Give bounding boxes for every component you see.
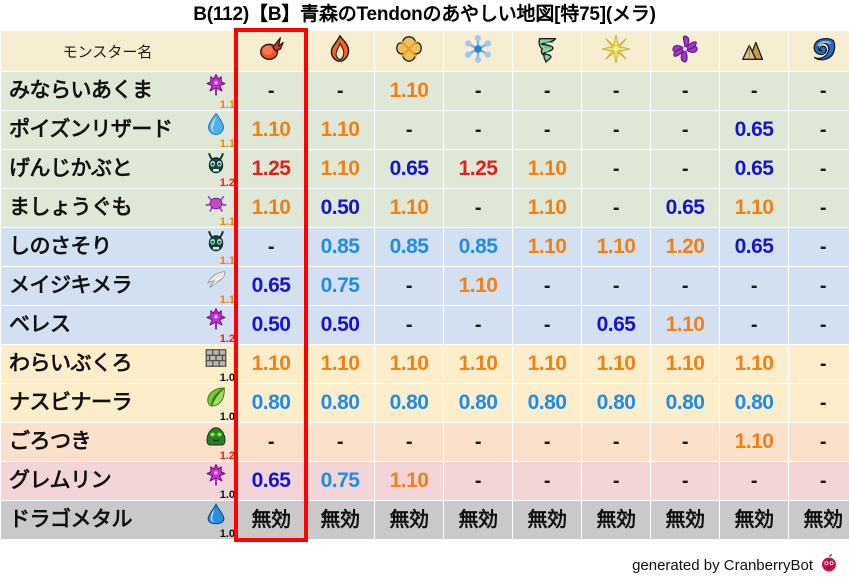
monster-name-cell[interactable]: げんじかぶと1.2	[1, 150, 236, 188]
damage-cell[interactable]: 1.10	[237, 189, 305, 227]
damage-cell[interactable]: -	[513, 111, 581, 149]
damage-cell[interactable]: 無効	[513, 501, 581, 539]
damage-cell[interactable]: 0.50	[237, 306, 305, 344]
damage-cell[interactable]: 1.10	[651, 306, 719, 344]
feather-wing-icon	[198, 268, 234, 296]
damage-cell[interactable]: -	[789, 423, 849, 461]
damage-cell[interactable]: 0.80	[237, 384, 305, 422]
damage-cell[interactable]: -	[444, 189, 512, 227]
damage-cell[interactable]: 無効	[582, 501, 650, 539]
beetle-icon	[198, 229, 234, 257]
tornado-icon	[532, 34, 562, 69]
damage-cell[interactable]: 0.65	[651, 189, 719, 227]
column-header-monster-name: モンスター名	[1, 31, 236, 71]
damage-cell[interactable]: -	[513, 72, 581, 110]
damage-cell[interactable]: -	[789, 189, 849, 227]
damage-cell[interactable]: 1.10	[720, 345, 788, 383]
fireball-icon	[256, 34, 286, 69]
table-row: わらいぶくろ1.01.101.101.101.101.101.101.101.1…	[1, 345, 849, 383]
damage-cell[interactable]: -	[789, 462, 849, 500]
damage-cell[interactable]: 1.10	[513, 345, 581, 383]
damage-cell[interactable]: 1.10	[375, 189, 443, 227]
damage-table: モンスター名 みならいあくま1.1--1.10------ポイズンリザード1.1…	[0, 30, 849, 540]
footer: generated by CranberryBot	[632, 553, 839, 577]
damage-cell[interactable]: 1.10	[306, 111, 374, 149]
table-row: ポイズンリザード1.11.101.10-----0.65-	[1, 111, 849, 149]
flame-icon	[325, 34, 355, 69]
monster-name-cell[interactable]: ましょうぐも1.1	[1, 189, 236, 227]
damage-cell[interactable]: 1.10	[375, 345, 443, 383]
damage-cell[interactable]: 1.20	[651, 228, 719, 266]
damage-cell[interactable]: -	[582, 111, 650, 149]
damage-cell[interactable]: -	[789, 345, 849, 383]
table-row: ナスビナーラ1.00.800.800.800.800.800.800.800.8…	[1, 384, 849, 422]
damage-cell[interactable]: -	[582, 150, 650, 188]
damage-cell[interactable]: -	[582, 423, 650, 461]
damage-cell[interactable]: -	[720, 462, 788, 500]
damage-cell[interactable]: 0.65	[237, 267, 305, 305]
damage-cell[interactable]: 0.80	[720, 384, 788, 422]
damage-cell[interactable]: 1.10	[375, 72, 443, 110]
table-row: げんじかぶと1.21.251.100.651.251.10--0.65-	[1, 150, 849, 188]
table-row: メイジキメラ1.10.650.75-1.10-----	[1, 267, 849, 305]
damage-cell[interactable]: -	[720, 306, 788, 344]
table-row: みならいあくま1.1--1.10------	[1, 72, 849, 110]
damage-cell[interactable]: -	[789, 111, 849, 149]
damage-cell[interactable]: 1.10	[375, 462, 443, 500]
table-header-row: モンスター名	[1, 31, 849, 71]
column-header-mera[interactable]	[237, 31, 305, 71]
monster-multiplier: 1.0	[220, 373, 235, 384]
damage-cell[interactable]: 1.10	[582, 345, 650, 383]
damage-cell[interactable]: 1.10	[237, 345, 305, 383]
monster-multiplier: 1.0	[220, 412, 235, 423]
damage-cell[interactable]: -	[375, 423, 443, 461]
damage-cell[interactable]: -	[582, 267, 650, 305]
damage-cell[interactable]: -	[789, 267, 849, 305]
column-header-bagi[interactable]	[375, 31, 443, 71]
monster-multiplier: 1.1	[220, 100, 235, 111]
damage-cell[interactable]: 1.10	[306, 150, 374, 188]
damage-cell[interactable]: -	[651, 150, 719, 188]
damage-cell[interactable]: 無効	[444, 501, 512, 539]
damage-cell[interactable]: 0.65	[720, 228, 788, 266]
column-header-hyado[interactable]	[444, 31, 512, 71]
damage-cell[interactable]: 0.80	[375, 384, 443, 422]
damage-cell[interactable]: 0.75	[306, 267, 374, 305]
monster-multiplier: 1.1	[220, 217, 235, 228]
damage-cell[interactable]: 1.10	[720, 423, 788, 461]
damage-cell[interactable]: -	[444, 111, 512, 149]
damage-cell[interactable]: 1.10	[513, 189, 581, 227]
damage-cell[interactable]: 0.80	[651, 384, 719, 422]
damage-cell[interactable]: 1.10	[720, 189, 788, 227]
monster-name-cell[interactable]: ごろつき1.2	[1, 423, 236, 461]
damage-cell[interactable]: -	[582, 462, 650, 500]
table-row: ごろつき1.2-------1.10-	[1, 423, 849, 461]
damage-cell[interactable]: -	[651, 72, 719, 110]
beetle-icon	[198, 151, 234, 179]
damage-cell[interactable]: -	[513, 423, 581, 461]
damage-cell[interactable]: 1.10	[582, 228, 650, 266]
purple-spider-icon	[198, 190, 234, 218]
blue-slime-icon	[198, 502, 234, 530]
damage-cell[interactable]: -	[306, 72, 374, 110]
table-head: モンスター名	[1, 31, 849, 71]
column-header-dein[interactable]	[582, 31, 650, 71]
damage-cell[interactable]: -	[444, 72, 512, 110]
damage-cell[interactable]: -	[444, 462, 512, 500]
monster-name-cell[interactable]: ポイズンリザード1.1	[1, 111, 236, 149]
wave-icon	[808, 34, 838, 69]
monster-name-cell[interactable]: しのさそり1.1	[1, 228, 236, 266]
damage-cell[interactable]: -	[651, 111, 719, 149]
monster-multiplier: 1.1	[220, 139, 235, 150]
column-header-gira[interactable]	[306, 31, 374, 71]
cross-icon	[394, 34, 424, 69]
damage-cell[interactable]: -	[789, 150, 849, 188]
damage-cell[interactable]: -	[237, 72, 305, 110]
damage-cell[interactable]: 無効	[375, 501, 443, 539]
damage-cell[interactable]: -	[237, 228, 305, 266]
damage-cell[interactable]: 無効	[237, 501, 305, 539]
damage-cell[interactable]: -	[375, 306, 443, 344]
damage-cell[interactable]: 0.85	[444, 228, 512, 266]
damage-cell[interactable]: 無効	[789, 501, 849, 539]
monster-name-cell[interactable]: わらいぶくろ1.0	[1, 345, 236, 383]
damage-cell[interactable]: 0.50	[306, 189, 374, 227]
damage-cell[interactable]: 1.10	[306, 345, 374, 383]
damage-cell[interactable]: -	[720, 72, 788, 110]
damage-cell[interactable]: -	[789, 228, 849, 266]
damage-cell[interactable]: 0.65	[237, 462, 305, 500]
damage-cell[interactable]: -	[651, 462, 719, 500]
damage-cell[interactable]: 0.80	[582, 384, 650, 422]
damage-cell[interactable]: 0.65	[720, 150, 788, 188]
monster-multiplier: 1.2	[220, 178, 235, 189]
damage-cell[interactable]: -	[237, 423, 305, 461]
monster-name-cell[interactable]: メイジキメラ1.1	[1, 267, 236, 305]
damage-cell[interactable]: 1.10	[237, 111, 305, 149]
damage-cell[interactable]: -	[582, 189, 650, 227]
damage-cell[interactable]: 無効	[306, 501, 374, 539]
green-leaf-icon	[198, 385, 234, 413]
damage-cell[interactable]: 1.10	[513, 228, 581, 266]
green-slime-icon	[198, 424, 234, 452]
cranberry-icon	[819, 553, 839, 577]
damage-cell[interactable]: -	[513, 267, 581, 305]
devil-trident-icon	[198, 73, 234, 101]
damage-cell[interactable]: -	[789, 72, 849, 110]
damage-cell[interactable]: 1.10	[444, 267, 512, 305]
table-row: しのさそり1.1-0.850.850.851.101.101.200.65-	[1, 228, 849, 266]
water-drop-icon	[198, 112, 234, 140]
damage-cell[interactable]: -	[444, 423, 512, 461]
brick-wall-icon	[198, 346, 234, 374]
damage-cell[interactable]: -	[375, 111, 443, 149]
damage-cell[interactable]: 無効	[651, 501, 719, 539]
column-header-io[interactable]	[651, 31, 719, 71]
monster-multiplier: 1.1	[220, 295, 235, 306]
monster-name-cell[interactable]: ドラゴメタル1.0	[1, 501, 236, 539]
monster-multiplier: 1.2	[220, 451, 235, 462]
pinwheel-icon	[670, 34, 700, 69]
damage-cell[interactable]: -	[651, 267, 719, 305]
devil-trident-icon	[198, 307, 234, 335]
damage-cell[interactable]: -	[789, 306, 849, 344]
damage-cell[interactable]: -	[513, 306, 581, 344]
monster-multiplier: 1.1	[220, 256, 235, 267]
starburst-icon	[601, 34, 631, 69]
footer-text: generated by CranberryBot	[632, 557, 813, 574]
monster-multiplier: 1.0	[220, 490, 235, 501]
table-row: ドラゴメタル1.0無効無効無効無効無効無効無効無効無効	[1, 501, 849, 539]
column-header-merazo[interactable]	[789, 31, 849, 71]
column-header-dorama[interactable]	[513, 31, 581, 71]
damage-cell[interactable]: 0.65	[582, 306, 650, 344]
damage-table-wrapper: モンスター名 みならいあくま1.1--1.10------ポイズンリザード1.1…	[0, 30, 849, 540]
monster-name-cell[interactable]: みならいあくま1.1	[1, 72, 236, 110]
damage-cell[interactable]: 0.50	[306, 306, 374, 344]
column-header-jiba[interactable]	[720, 31, 788, 71]
monster-multiplier: 1.0	[220, 529, 235, 540]
table-body: みならいあくま1.1--1.10------ポイズンリザード1.11.101.1…	[1, 72, 849, 539]
table-row: グレムリン1.00.650.751.10------	[1, 462, 849, 500]
damage-cell[interactable]: 0.85	[306, 228, 374, 266]
damage-cell[interactable]: -	[375, 267, 443, 305]
monster-name-cell[interactable]: ナスビナーラ1.0	[1, 384, 236, 422]
monster-name-cell[interactable]: グレムリン1.0	[1, 462, 236, 500]
damage-cell[interactable]: -	[789, 384, 849, 422]
page-title: B(112)【B】青森のTendonのあやしい地図[特75](メラ)	[0, 0, 849, 30]
mountain-icon	[739, 34, 769, 69]
snowflake-icon	[463, 34, 493, 69]
damage-cell[interactable]: 0.80	[306, 384, 374, 422]
monster-multiplier: 1.2	[220, 334, 235, 345]
damage-cell[interactable]: 無効	[720, 501, 788, 539]
damage-cell[interactable]: 0.80	[444, 384, 512, 422]
damage-cell[interactable]: -	[582, 72, 650, 110]
monster-name-cell[interactable]: ベレス1.2	[1, 306, 236, 344]
damage-cell[interactable]: 1.25	[237, 150, 305, 188]
damage-cell[interactable]: 0.65	[720, 111, 788, 149]
table-row: ましょうぐも1.11.100.501.10-1.10-0.651.10-	[1, 189, 849, 227]
damage-cell[interactable]: -	[513, 462, 581, 500]
damage-cell[interactable]: 0.65	[375, 150, 443, 188]
damage-cell[interactable]: 0.75	[306, 462, 374, 500]
damage-cell[interactable]: 0.80	[513, 384, 581, 422]
damage-cell[interactable]: 0.85	[375, 228, 443, 266]
table-row: ベレス1.20.500.50---0.651.10--	[1, 306, 849, 344]
damage-cell[interactable]: 1.10	[444, 345, 512, 383]
damage-cell[interactable]: -	[444, 306, 512, 344]
damage-cell[interactable]: 1.25	[444, 150, 512, 188]
damage-cell[interactable]: -	[720, 267, 788, 305]
damage-cell[interactable]: 1.10	[651, 345, 719, 383]
damage-cell[interactable]: -	[306, 423, 374, 461]
devil-trident-icon	[198, 463, 234, 491]
page-root: B(112)【B】青森のTendonのあやしい地図[特75](メラ) モンスター…	[0, 0, 849, 583]
damage-cell[interactable]: 1.10	[513, 150, 581, 188]
damage-cell[interactable]: -	[651, 423, 719, 461]
